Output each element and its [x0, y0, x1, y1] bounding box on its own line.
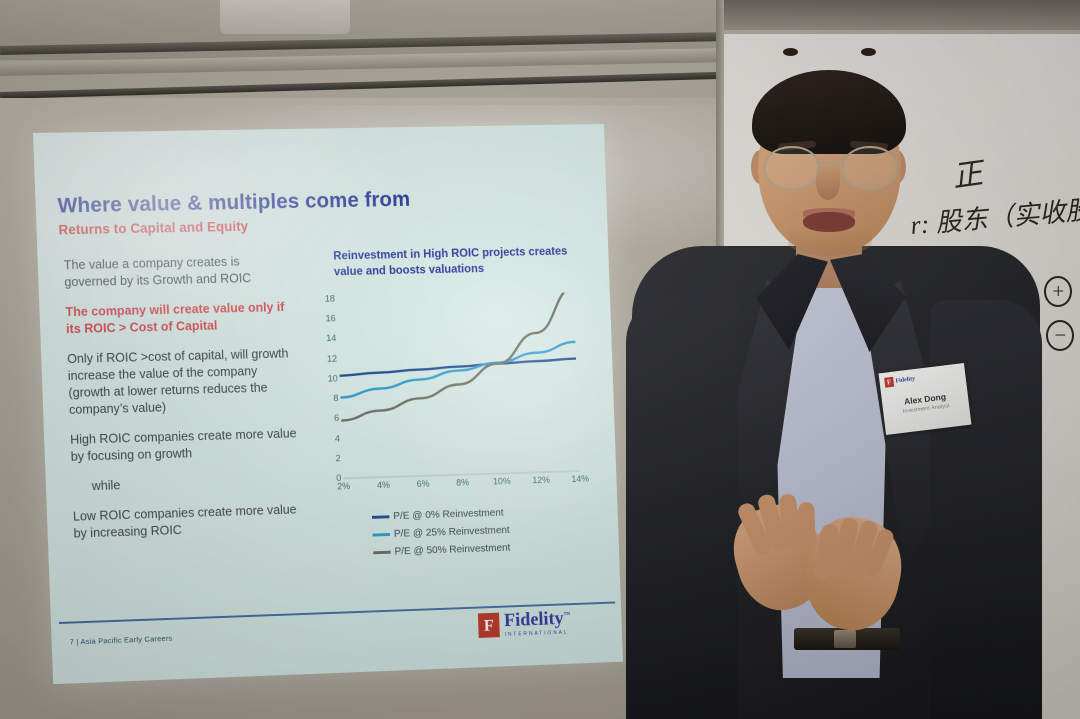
whiteboard-note-minus: − [1046, 320, 1074, 351]
chart-legend-item: P/E @ 0% Reinvestment [372, 507, 510, 522]
chart-legend: P/E @ 0% ReinvestmentP/E @ 25% Reinvestm… [372, 507, 511, 565]
chart-legend-swatch [372, 516, 390, 519]
slide-bullet-1: The company will create value only if it… [65, 299, 295, 338]
fidelity-logo-word: Fidelity [504, 608, 564, 631]
jacket-sleeve-left [626, 294, 738, 719]
chart-series-line [337, 292, 578, 420]
chin [788, 228, 872, 256]
chart-legend-swatch [373, 533, 391, 536]
chart: 024681012141618 2%4%6%8%10%12%14% [312, 292, 581, 495]
eye-left [783, 48, 798, 56]
eyeglass-lens-right [842, 146, 898, 190]
chart-lines [337, 292, 580, 477]
chart-y-tick: 6 [334, 412, 339, 423]
slide-footer-separator: | [76, 637, 79, 646]
slide-page-number: 7 [69, 637, 74, 646]
finger [798, 502, 816, 553]
chart-legend-item: P/E @ 25% Reinvestment [372, 525, 510, 540]
chart-series-line [339, 342, 578, 398]
slide-canvas: Where value & multiples come from Return… [33, 124, 623, 684]
slide-subtitle: Returns to Capital and Equity [58, 219, 248, 238]
slide-bullet-0: The value a company creates is governed … [63, 253, 293, 292]
chart-x-tick: 6% [416, 479, 429, 489]
slide-title: Where value & multiples come from [57, 188, 410, 218]
chart-legend-item: P/E @ 50% Reinvestment [373, 543, 511, 558]
chart-x-tick: 10% [493, 476, 511, 486]
slide-bullet-2: Only if ROIC >cost of capital, will grow… [67, 345, 298, 419]
chart-x-tick: 4% [377, 480, 390, 490]
nose [816, 164, 840, 200]
eye-right [861, 48, 876, 56]
slide-deck-name: Asia Pacific Early Careers [80, 634, 172, 646]
chart-legend-label: P/E @ 25% Reinvestment [394, 525, 510, 540]
belt-buckle [834, 630, 856, 648]
chart-x-tick: 8% [456, 477, 469, 487]
fidelity-logo-subtitle: INTERNATIONAL [504, 630, 570, 638]
whiteboard-note-plus: + [1044, 276, 1072, 307]
trademark-icon: ™ [563, 611, 570, 619]
chart-legend-label: P/E @ 50% Reinvestment [394, 543, 510, 558]
fidelity-logo-wordmark: Fidelity™ [504, 609, 571, 630]
chart-x-tick: 2% [337, 481, 350, 491]
chart-y-tick: 8 [333, 392, 338, 403]
speaker: F Fidelity Alex Dong Investment Analyst [618, 32, 1048, 719]
chart-legend-swatch [373, 551, 391, 554]
chart-x-tick: 14% [571, 474, 589, 484]
badge-logo-word: Fidelity [895, 376, 915, 384]
slide-bullet-4: while [72, 472, 301, 496]
name-badge: F Fidelity Alex Dong Investment Analyst [879, 363, 972, 435]
chart-y-tick: 18 [325, 293, 336, 304]
slide-bullet-5: Low ROIC companies create more value by … [73, 501, 303, 542]
slide-bullet-list: The value a company creates is governed … [63, 253, 302, 556]
eyeglass-lens-left [764, 146, 820, 190]
chart-y-tick: 16 [325, 313, 336, 324]
photo-scene: 正 r: 股东（实收股东 + − r Where value & multipl… [0, 0, 1080, 719]
projector-soffit [220, 0, 350, 34]
chart-x-tick: 12% [532, 475, 550, 485]
slide-bullet-3: High ROIC companies create more value by… [70, 425, 300, 465]
whiteboard-top-trim [716, 0, 1080, 30]
fidelity-logo: F Fidelity™ INTERNATIONAL [478, 609, 571, 639]
chart-y-tick: 14 [326, 332, 337, 343]
chart-title: Reinvestment in High ROIC projects creat… [333, 244, 575, 281]
chart-plot-area [337, 292, 580, 477]
chart-y-tick: 10 [327, 372, 338, 383]
hair [752, 70, 906, 154]
badge-logo: F Fidelity [884, 374, 916, 388]
jacket-sleeve-right [930, 300, 1042, 719]
slide-footer-text: 7 | Asia Pacific Early Careers [69, 634, 172, 647]
projected-slide: Where value & multiples come from Return… [33, 124, 623, 684]
chart-legend-label: P/E @ 0% Reinvestment [393, 508, 504, 522]
chart-y-tick: 12 [327, 352, 338, 363]
chart-series-line [339, 359, 576, 376]
chart-y-tick: 4 [335, 432, 340, 443]
chart-y-tick: 2 [335, 452, 340, 463]
fidelity-logo-mark: F [478, 613, 500, 638]
badge-logo-mark: F [884, 377, 894, 388]
